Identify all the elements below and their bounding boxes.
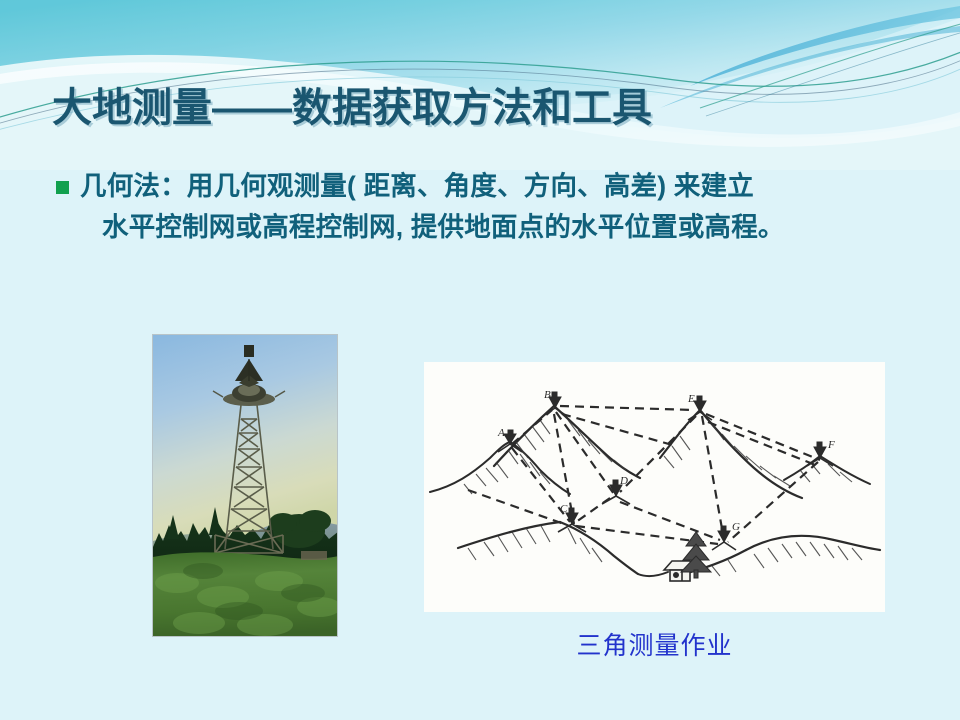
diagram-caption: 三角测量作业 [424, 626, 885, 662]
triangulation-network-diagram: A B C D E F G [424, 362, 885, 612]
page-title: 大地测量——数据获取方法和工具 [52, 86, 652, 130]
square-bullet-icon [56, 181, 69, 194]
triangulation-tower-photo [152, 334, 338, 637]
point-label-D: D [619, 475, 628, 487]
list-item: 几何法：用几何观测量( 距离、角度、方向、高差) 来建立 水平控制网或高程控制网… [56, 166, 932, 248]
bullet-line-2: 水平控制网或高程控制网, 提供地面点的水平位置或高程。 [80, 207, 785, 248]
point-label-F: F [827, 439, 835, 451]
body-content: 几何法：用几何观测量( 距离、角度、方向、高差) 来建立 水平控制网或高程控制网… [56, 166, 932, 248]
bullet-line-1: 几何法：用几何观测量( 距离、角度、方向、高差) 来建立 [80, 171, 754, 201]
slide-canvas: 大地测量——数据获取方法和工具 几何法：用几何观测量( 距离、角度、方向、高差)… [0, 0, 960, 720]
point-label-A: A [497, 427, 505, 439]
point-label-E: E [687, 393, 695, 405]
header-wave-banner [0, 0, 960, 170]
bullet-text-block: 几何法：用几何观测量( 距离、角度、方向、高差) 来建立 水平控制网或高程控制网… [80, 166, 785, 248]
point-label-G: G [732, 521, 740, 533]
point-label-B: B [544, 389, 551, 401]
point-label-C: C [560, 503, 568, 515]
